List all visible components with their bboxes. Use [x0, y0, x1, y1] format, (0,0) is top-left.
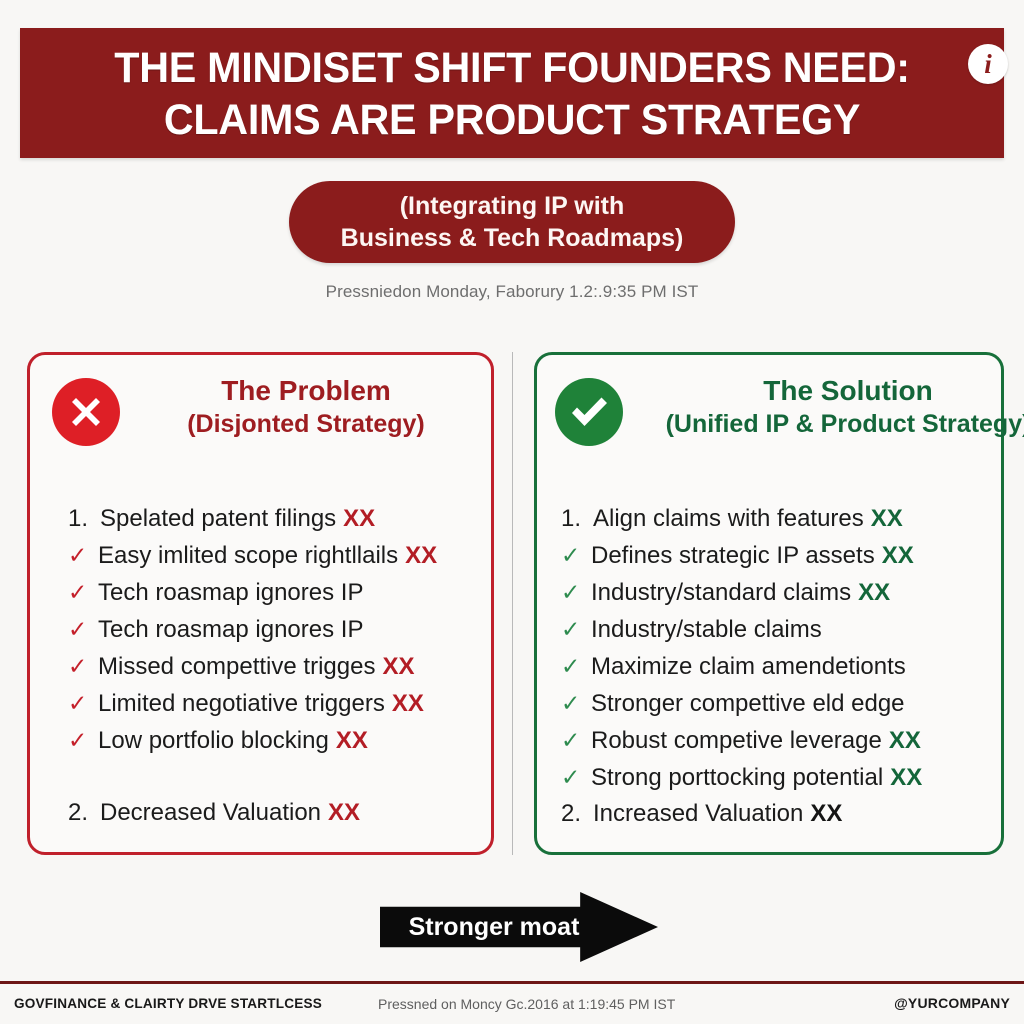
list-item-metric: XX — [336, 723, 368, 759]
list-item-label: Defines strategic IP assets — [591, 538, 875, 574]
footer: GOVFINANCE & CLAIRTY DRVE STARTLCESS Pre… — [0, 984, 1024, 1024]
check-icon: ✓ — [561, 574, 591, 610]
list-item: ✓Missed compettive triggesXX — [68, 648, 491, 685]
list-item-number: 1. — [68, 501, 100, 537]
check-icon: ✓ — [561, 611, 591, 647]
list-item-number: 2. — [561, 796, 593, 832]
list-item: ✓Industry/stable claims — [561, 611, 1001, 648]
list-item: 2.Decreased ValuationXX — [68, 795, 491, 831]
list-item: ✓Stronger compettive eld edge — [561, 685, 1001, 722]
check-icon: ✓ — [68, 648, 98, 684]
list-item: ✓Tech roasmap ignores IP — [68, 611, 491, 648]
list-item: ✓Limited negotiative triggersXX — [68, 685, 491, 722]
list-item: ✓Robust competive leverageXX — [561, 722, 1001, 759]
solution-card-title: The Solution — [633, 373, 1024, 408]
page-title-line-2: CLAIMS ARE PRODUCT STRATEGY — [40, 94, 985, 146]
list-item: 1.Align claims with featuresXX — [561, 501, 1001, 537]
list-item-label: Tech roasmap ignores IP — [98, 612, 363, 648]
list-item-label: Missed compettive trigges — [98, 649, 375, 685]
list-item-label: Industry/stable claims — [591, 612, 822, 648]
solution-card: The Solution (Unified IP & Product Strat… — [534, 352, 1004, 855]
subtitle-line-2: Business & Tech Roadmaps) — [341, 222, 684, 254]
list-item-label: Industry/standard claims — [591, 575, 851, 611]
list-item-metric: XX — [810, 796, 842, 832]
list-item: ✓Easy imlited scope rightllailsXX — [68, 537, 491, 574]
check-icon: ✓ — [68, 685, 98, 721]
page-title: THE MINDISET SHIFT FOUNDERS NEED: CLAIMS… — [40, 42, 985, 146]
list-item-metric: XX — [405, 538, 437, 574]
list-item-label: Maximize claim amendetionts — [591, 649, 906, 685]
list-item-metric: XX — [871, 501, 903, 537]
list-item: ✓Low portfolio blockingXX — [68, 722, 491, 759]
list-item-label: Increased Valuation — [593, 796, 803, 832]
check-icon: ✓ — [68, 574, 98, 610]
list-item-label: Strong porttocking potential — [591, 760, 883, 796]
list-item: 1.Spelated patent filingsXX — [68, 501, 491, 537]
header-banner: THE MINDISET SHIFT FOUNDERS NEED: CLAIMS… — [20, 28, 1004, 158]
list-item-number: 1. — [561, 501, 593, 537]
list-item: ✓Industry/standard claimsXX — [561, 574, 1001, 611]
check-icon: ✓ — [561, 759, 591, 795]
circle-check-icon — [555, 378, 623, 446]
arrow-label: Stronger moat — [404, 913, 584, 942]
list-item-number: 2. — [68, 795, 100, 831]
footer-tagline: GOVFINANCE & CLAIRTY DRVE STARTLCESS — [14, 995, 322, 1011]
list-item-label: Low portfolio blocking — [98, 723, 329, 759]
list-item-label: Robust competive leverage — [591, 723, 882, 759]
check-icon: ✓ — [561, 648, 591, 684]
info-icon[interactable]: i — [968, 44, 1008, 84]
list-item-metric: XX — [392, 686, 424, 722]
check-icon: ✓ — [68, 722, 98, 758]
solution-card-header: The Solution (Unified IP & Product Strat… — [537, 373, 1001, 465]
problem-card-header: The Problem (Disjonted Strategy) — [30, 373, 491, 465]
problem-card-subtitle: (Disjonted Strategy) — [126, 408, 486, 440]
list-item-metric: XX — [343, 501, 375, 537]
stronger-moat-arrow: Stronger moat — [380, 892, 658, 962]
list-item: ✓Maximize claim amendetionts — [561, 648, 1001, 685]
list-item-metric: XX — [382, 649, 414, 685]
check-icon: ✓ — [561, 537, 591, 573]
list-item-metric: XX — [889, 723, 921, 759]
subtitle-line-1: (Integrating IP with — [400, 190, 625, 222]
check-icon: ✓ — [68, 611, 98, 647]
problem-list: 1.Spelated patent filingsXX✓Easy imlited… — [30, 501, 491, 831]
card-divider — [512, 352, 513, 855]
problem-card: The Problem (Disjonted Strategy) 1.Spela… — [27, 352, 494, 855]
list-item-label: Stronger compettive eld edge — [591, 686, 905, 722]
solution-list: 1.Align claims with featuresXX✓Defines s… — [537, 501, 1001, 832]
list-item-label: Align claims with features — [593, 501, 864, 537]
circle-x-icon — [52, 378, 120, 446]
list-item: ✓Strong porttocking potentialXX — [561, 759, 1001, 796]
list-item: 2.Increased ValuationXX — [561, 796, 1001, 832]
list-item: ✓Tech roasmap ignores IP — [68, 574, 491, 611]
list-item: ✓Defines strategic IP assetsXX — [561, 537, 1001, 574]
list-item-label: Tech roasmap ignores IP — [98, 575, 363, 611]
subtitle-pill: (Integrating IP with Business & Tech Roa… — [289, 181, 735, 263]
check-icon: ✓ — [561, 685, 591, 721]
list-item-label: Decreased Valuation — [100, 795, 321, 831]
page-title-line-1: THE MINDISET SHIFT FOUNDERS NEED: — [40, 42, 985, 94]
check-icon: ✓ — [561, 722, 591, 758]
list-item-metric: XX — [882, 538, 914, 574]
list-item-label: Spelated patent filings — [100, 501, 336, 537]
footer-timestamp: Pressned on Moncy Gc.2016 at 1:19:45 PM … — [378, 996, 675, 1012]
list-item-label: Easy imlited scope rightllails — [98, 538, 398, 574]
comparison-cards: The Problem (Disjonted Strategy) 1.Spela… — [0, 352, 1024, 857]
solution-card-subtitle: (Unified IP & Product Strategy) — [633, 408, 1024, 440]
list-item-metric: XX — [890, 760, 922, 796]
check-icon: ✓ — [68, 537, 98, 573]
problem-card-title-block: The Problem (Disjonted Strategy) — [126, 373, 486, 440]
list-item-metric: XX — [858, 575, 890, 611]
footer-handle[interactable]: @YURCOMPANY — [894, 995, 1010, 1011]
problem-card-title: The Problem — [126, 373, 486, 408]
list-item-label: Limited negotiative triggers — [98, 686, 385, 722]
solution-card-title-block: The Solution (Unified IP & Product Strat… — [633, 373, 1024, 440]
timestamp-text: Pressniedon Monday, Faborury 1.2:.9:35 P… — [0, 282, 1024, 302]
list-item-metric: XX — [328, 795, 360, 831]
